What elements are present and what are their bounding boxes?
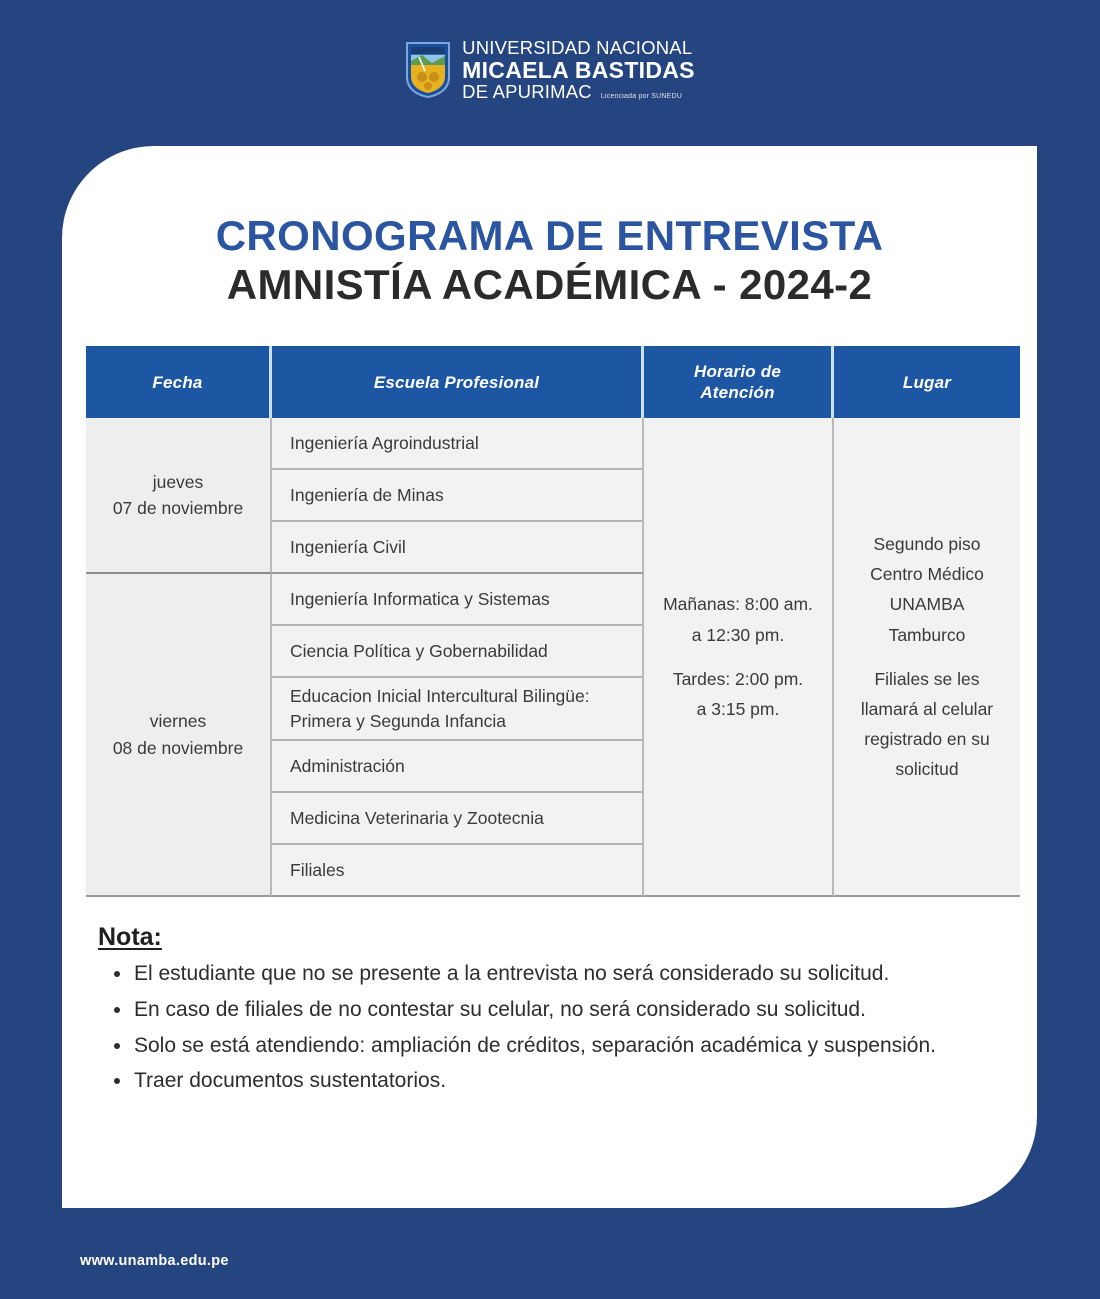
page-header: UNIVERSIDAD NACIONAL MICAELA BASTIDAS DE… [0, 0, 1100, 140]
lugar-line-6: llamará al celular [861, 699, 993, 719]
column-header-horario-line2: Atención [700, 383, 774, 402]
lugar-line-8: solicitud [895, 759, 958, 779]
spacer [652, 650, 824, 664]
list-item: En caso de filiales de no contestar su c… [98, 994, 1013, 1027]
school-cell: Administración [272, 741, 644, 793]
table-row: jueves 07 de noviembre Ingeniería Agroin… [86, 418, 1020, 470]
list-item: Solo se está atendiendo: ampliación de c… [98, 1030, 1013, 1063]
notes-heading: Nota: [98, 923, 1013, 952]
date-full-1: 07 de noviembre [113, 498, 243, 518]
date-cell-viernes: viernes 08 de noviembre [86, 574, 272, 897]
horario-cell: Mañanas: 8:00 am. a 12:30 pm. Tardes: 2:… [644, 418, 834, 897]
table-header-row: Fecha Escuela Profesional Horario de Ate… [86, 346, 1020, 418]
date-day-2: viernes [150, 711, 206, 731]
column-header-horario: Horario de Atención [644, 346, 834, 418]
university-crest-icon [405, 41, 451, 99]
column-header-lugar: Lugar [834, 346, 1020, 418]
brand-line-3: DE APURIMAC [462, 82, 592, 102]
school-cell: Educacion Inicial Intercultural Bilingüe… [272, 678, 644, 741]
horario-morning-2: a 12:30 pm. [692, 625, 784, 645]
school-cell: Ciencia Política y Gobernabilidad [272, 626, 644, 678]
column-header-escuela: Escuela Profesional [272, 346, 644, 418]
lugar-line-3: UNAMBA [890, 594, 965, 614]
lugar-line-2: Centro Médico [870, 564, 984, 584]
notes-list: El estudiante que no se presente a la en… [98, 958, 1013, 1098]
university-logo: UNIVERSIDAD NACIONAL MICAELA BASTIDAS DE… [405, 38, 695, 103]
date-day-1: jueves [153, 472, 204, 492]
school-cell: Medicina Veterinaria y Zootecnia [272, 793, 644, 845]
horario-afternoon-2: a 3:15 pm. [697, 699, 780, 719]
list-item: El estudiante que no se presente a la en… [98, 958, 1013, 991]
date-full-2: 08 de noviembre [113, 738, 243, 758]
content-card: CRONOGRAMA DE ENTREVISTA AMNISTÍA ACADÉM… [62, 146, 1037, 1208]
lugar-line-1: Segundo piso [873, 534, 980, 554]
brand-line-1: UNIVERSIDAD NACIONAL [462, 38, 695, 58]
lugar-line-7: registrado en su [864, 729, 990, 749]
spacer [848, 650, 1006, 664]
page-title: CRONOGRAMA DE ENTREVISTA AMNISTÍA ACADÉM… [86, 146, 1013, 308]
title-line-2: AMNISTÍA ACADÉMICA - 2024-2 [86, 261, 1013, 308]
column-header-horario-line1: Horario de [694, 362, 781, 381]
school-cell: Ingeniería de Minas [272, 470, 644, 522]
school-cell: Ingeniería Civil [272, 522, 644, 574]
notes-section: Nota: El estudiante que no se presente a… [86, 923, 1013, 1098]
school-cell: Filiales [272, 845, 644, 897]
school-cell: Ingeniería Agroindustrial [272, 418, 644, 470]
school-cell: Ingeniería Informatica y Sistemas [272, 574, 644, 626]
schedule-table: Fecha Escuela Profesional Horario de Ate… [86, 346, 1020, 897]
column-header-fecha: Fecha [86, 346, 272, 418]
title-line-1: CRONOGRAMA DE ENTREVISTA [86, 214, 1013, 258]
website-url[interactable]: www.unamba.edu.pe [80, 1253, 229, 1269]
schedule-table-wrap: Fecha Escuela Profesional Horario de Ate… [86, 346, 1013, 897]
lugar-line-4: Tamburco [889, 625, 966, 645]
date-cell-jueves: jueves 07 de noviembre [86, 418, 272, 574]
horario-morning-1: Mañanas: 8:00 am. [663, 594, 813, 614]
list-item: Traer documentos sustentatorios. [98, 1065, 1013, 1098]
lugar-cell: Segundo piso Centro Médico UNAMBA Tambur… [834, 418, 1020, 897]
brand-line-2: MICAELA BASTIDAS [462, 58, 695, 83]
accreditation-label: Licenciada por SUNEDU [601, 93, 682, 103]
lugar-line-5: Filiales se les [874, 669, 979, 689]
horario-afternoon-1: Tardes: 2:00 pm. [673, 669, 803, 689]
